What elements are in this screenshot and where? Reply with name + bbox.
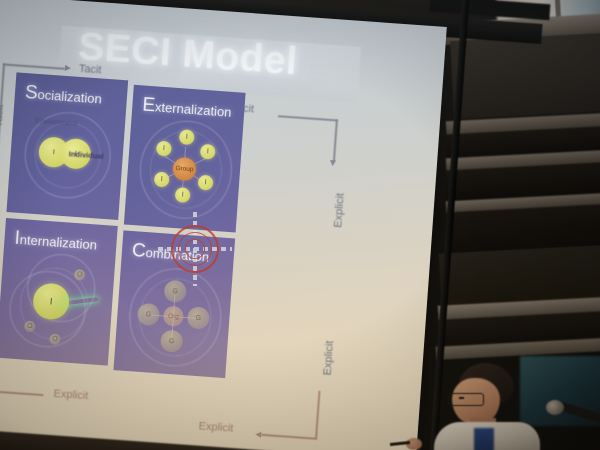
quadrant-externalization[interactable]: Externalization Group I I I I I xyxy=(124,85,246,233)
quadrant-rest: ocialization xyxy=(37,87,102,107)
photo-scene: SECI Model Tacit Tacit Tacit Tacit Expli… xyxy=(0,0,600,450)
quadrant-rest: nternalization xyxy=(19,232,97,252)
quadrant-rest: xternalization xyxy=(155,99,232,119)
axis-line-right-up xyxy=(315,391,320,439)
axis-label-top-left: Tacit xyxy=(78,63,101,77)
quadrant-title-socialization: Socialization xyxy=(24,82,102,109)
axis-line-top-right xyxy=(278,115,338,121)
slide-surface: SECI Model Tacit Tacit Tacit Tacit Expli… xyxy=(0,0,447,450)
quadrant-socialization[interactable]: Socialization Environment I I Individual xyxy=(6,72,128,220)
axis-label-left-top: Tacit xyxy=(0,104,6,127)
axis-label-bottom-right: Explicit xyxy=(198,420,234,434)
quadrant-title-combination: Combination xyxy=(131,240,210,267)
axis-label-right-bottom: Explicit xyxy=(322,340,336,376)
glasses-icon xyxy=(448,393,484,406)
quadrant-internalization[interactable]: Internalization I O O O xyxy=(0,218,118,366)
axis-label-bottom-left: Explicit xyxy=(53,388,89,402)
arrow-top-left-icon xyxy=(65,65,71,71)
presenter-jacket-opening xyxy=(474,428,494,450)
presenter xyxy=(430,360,600,450)
arrow-top-right-icon xyxy=(330,160,336,166)
quadrant-combination[interactable]: Combination Org G G G G xyxy=(113,230,235,378)
quadrant-title-internalization: Internalization xyxy=(14,228,98,256)
quadrant-rest: ombination xyxy=(145,245,210,265)
quadrant-title-externalization: Externalization xyxy=(142,94,233,122)
axis-label-right-top: Explicit xyxy=(332,193,346,229)
axis-line-bottom-left xyxy=(0,390,44,396)
axis-line-bottom-right xyxy=(261,434,317,440)
axis-line-top-left xyxy=(3,63,65,69)
axis-line-right-down xyxy=(333,119,338,161)
seci-matrix: Socialization Environment I I Individual… xyxy=(0,72,246,375)
wall-panel-upper xyxy=(450,31,600,119)
projector-screen: SECI Model Tacit Tacit Tacit Tacit Expli… xyxy=(0,0,447,450)
